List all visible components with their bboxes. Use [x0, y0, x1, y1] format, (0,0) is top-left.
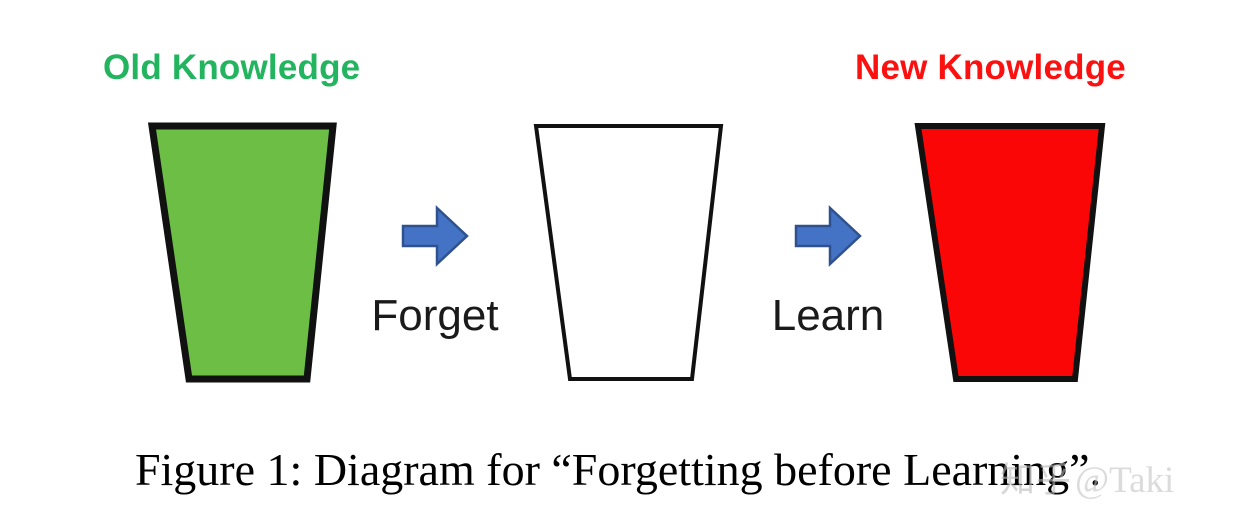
empty-cup-shape [527, 115, 732, 390]
learn-step: Learn [748, 200, 908, 338]
old-knowledge-cup-shape [145, 115, 345, 390]
forget-step: Forget [355, 200, 515, 338]
arrow-right-icon [399, 200, 471, 272]
old-knowledge-cup [145, 115, 345, 390]
figure-caption: Figure 1: Diagram for “Forgetting before… [0, 445, 1236, 496]
forget-arrow-label: Forget [355, 294, 515, 338]
learn-arrow-label: Learn [748, 294, 908, 338]
old-knowledge-heading: Old Knowledge [103, 50, 360, 85]
new-knowledge-heading: New Knowledge [855, 50, 1126, 85]
new-knowledge-cup [910, 115, 1115, 390]
empty-cup [527, 115, 732, 390]
figure-container: Old Knowledge New Knowledge Forget Learn… [0, 0, 1236, 529]
arrow-right-icon [792, 200, 864, 272]
new-knowledge-cup-shape [910, 115, 1115, 390]
